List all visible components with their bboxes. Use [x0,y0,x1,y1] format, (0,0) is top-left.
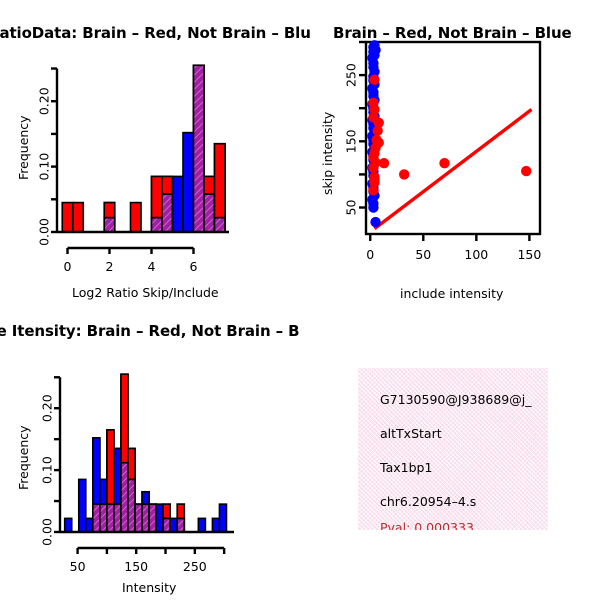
y-tick-label: 50 [344,200,359,216]
hist-bar-overlap [194,65,205,232]
hist-bar-overlap [152,218,163,232]
hist-bar-overlap [135,504,142,532]
hist-bar-not-brain-excess [100,479,107,504]
hist-bar-not-brain [65,518,72,532]
hist-bar-overlap [162,194,173,232]
x-tick-label: 0 [366,247,374,262]
hist-bar-brain-excess [104,203,115,218]
hist-bar-overlap [128,479,135,532]
scatter-point-not-brain [370,217,380,227]
hist-bar-brain-excess [215,144,226,218]
x-tick-label: 250 [183,559,207,574]
scatter-point-brain [439,158,449,168]
scatter-point-brain [399,169,409,179]
hist-bar-not-brain [219,504,226,532]
x-tick-label: 50 [415,247,431,262]
hist-bar-not-brain [198,518,205,532]
hist-bar-not-brain-excess [93,438,100,504]
hist-bar-overlap [93,504,100,532]
x-tick-label: 2 [106,259,114,274]
hist-bar-overlap [104,218,115,232]
scatter-point-brain [369,75,379,85]
hist-bar-brain [62,203,73,232]
scatter-point-brain [521,166,531,176]
info-line-probe-id: G7130590@J938689@j_ [380,392,531,407]
hist-bar-brain-excess [163,504,170,518]
scatter-frame [366,42,540,234]
hist-bar-overlap [215,218,226,232]
hist-bar-brain [73,203,84,232]
histogram-bars-group [62,65,225,232]
scatter-point-brain [372,126,382,136]
hist-bar-overlap [121,463,128,532]
y-tick-label: 150 [344,129,359,153]
histogram-bars-group [65,374,227,532]
scatter-point-brain [379,158,389,168]
hist-bar-not-brain [173,176,184,232]
x-tick-label: 4 [148,259,156,274]
scatter-points-group [367,40,531,227]
y-tick-label: 0.10 [40,456,55,484]
hist-bar-brain-excess [107,430,114,504]
hist-bar-not-brain [183,133,194,232]
hist-bar-overlap [163,518,170,532]
hist-bar-not-brain [156,504,163,532]
x-tick-label: 50 [70,559,86,574]
hist-bar-overlap [177,518,184,532]
x-tick-label: 6 [190,259,198,274]
info-line-event-type: altTxStart [380,426,442,441]
hist-bar-brain-excess [121,374,128,462]
hist-bar-not-brain [170,518,177,532]
scatter-point-brain [368,163,378,173]
hist-bar-overlap [204,194,215,232]
hist-bar-overlap [107,504,114,532]
hist-bar-overlap [100,504,107,532]
hist-intensity-plot-area: 0.000.100.2050150250 [0,300,300,600]
hist-bar-overlap [114,504,121,532]
hist-bar-not-brain-excess [142,492,149,504]
y-tick-label: 250 [344,63,359,87]
hist-bar-overlap [142,504,149,532]
info-line-pvalue: Pval: 0.000333 [380,520,474,530]
y-tick-label: 0.00 [37,218,52,246]
hist-bar-not-brain [212,518,219,532]
scatter-trend-line [374,110,531,229]
hist-bar-brain-excess [162,176,173,194]
x-tick-label: 0 [64,259,72,274]
x-tick-label: 150 [517,247,541,262]
y-tick-label: 0.20 [37,87,52,115]
hist-bar-brain [131,203,142,232]
y-tick-label: 0.20 [40,394,55,422]
hist-bar-not-brain [79,479,86,532]
hist-bar-brain-excess [128,448,135,479]
x-tick-label: 150 [124,559,148,574]
hist-bar-not-brain-excess [114,448,121,504]
x-tick-label: 100 [464,247,488,262]
y-tick-label: 0.10 [37,153,52,181]
hist-bar-overlap [149,504,156,532]
info-line-gene-symbol: Tax1bp1 [380,460,432,475]
hist-ratio-plot-area: 0.000.100.200246 [0,0,300,300]
scatter-plot-area: 50150250050100150 [300,0,600,300]
hist-bar-brain-excess [152,176,163,217]
hist-bar-not-brain [86,518,93,532]
info-line-locus: chr6.20954–4.s [380,494,476,509]
scatter-point-not-brain [368,202,378,212]
y-tick-label: 0.00 [40,518,55,546]
gene-info-box: G7130590@J938689@j_ altTxStart Tax1bp1 c… [358,368,548,530]
hist-bar-brain-excess [177,504,184,518]
scatter-point-brain [368,185,378,195]
hist-bar-brain-excess [204,176,215,194]
